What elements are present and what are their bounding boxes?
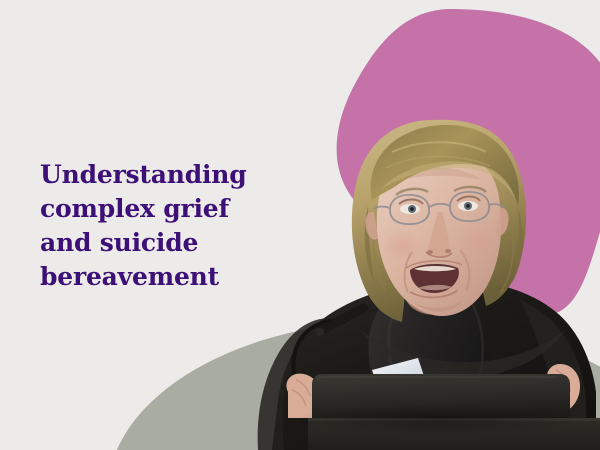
nostril-right — [445, 249, 451, 253]
page-title: Understanding complex grief and suicide … — [40, 158, 290, 294]
pupil-left — [410, 207, 414, 211]
pupil-right — [466, 204, 470, 208]
slide-canvas: Understanding complex grief and suicide … — [0, 0, 600, 450]
cheek-left — [382, 230, 422, 262]
cheek-right — [458, 226, 498, 258]
title-block: Understanding complex grief and suicide … — [40, 158, 290, 294]
nostril-left — [427, 250, 433, 254]
lectern-shadow — [290, 404, 590, 436]
microphone-joint — [316, 328, 324, 336]
